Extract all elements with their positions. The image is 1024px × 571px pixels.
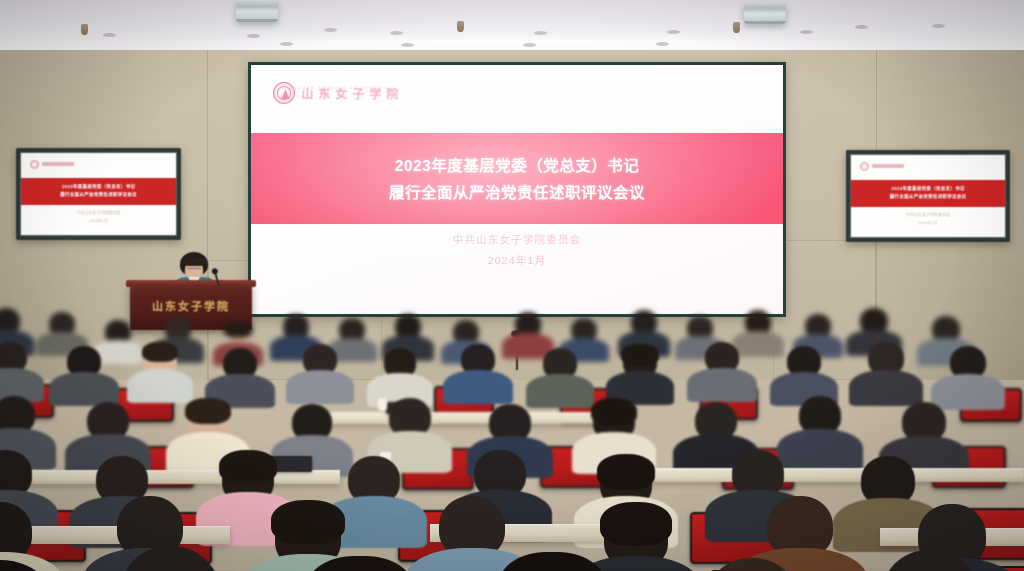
- side-monitor-right-logo: [860, 162, 904, 171]
- side-monitor-right-band: 2023年度基层党委（党总支）书记 履行全面从严治党责任述职评议会议: [851, 180, 1005, 207]
- recessed-light: [247, 34, 260, 38]
- slide-title-line-1: 2023年度基层党委（党总支）书记: [395, 154, 639, 176]
- recessed-light: [667, 30, 680, 34]
- audience: [0, 300, 1024, 571]
- audience-desk: [0, 526, 230, 544]
- ceiling-projector: [236, 0, 278, 22]
- recessed-light: [855, 25, 868, 29]
- side-monitor-right-footer: 中共山东女子学院委员会 2024年1月: [851, 212, 1005, 226]
- projection-surface: 山东女子学院 SHANDONG WOMEN'S UNIVERSITY 2023年…: [251, 65, 783, 314]
- side-monitor-right-date: 2024年1月: [918, 220, 937, 226]
- side-monitor-left-footer: 中共山东女子学院委员会 2024年1月: [21, 210, 176, 224]
- side-monitor-left: 2023年度基层党委（党总支）书记 履行全面从严治党责任述职评议会议 中共山东女…: [16, 148, 181, 240]
- university-seal-icon: [30, 160, 39, 169]
- sprinkler-head: [81, 24, 88, 35]
- side-monitor-left-title-2: 履行全面从严治党责任述职评议会议: [60, 192, 137, 198]
- side-monitor-left-title-1: 2023年度基层党委（党总支）书记: [62, 184, 135, 190]
- conference-room-photo: 山东女子学院 SHANDONG WOMEN'S UNIVERSITY 2023年…: [0, 0, 1024, 571]
- podium-top-surface: [126, 280, 256, 287]
- recessed-light: [324, 28, 337, 32]
- university-seal-icon: [860, 162, 869, 171]
- side-monitor-right-screen: 2023年度基层党委（党总支）书记 履行全面从严治党责任述职评议会议 中共山东女…: [850, 154, 1006, 238]
- recessed-light: [800, 30, 813, 34]
- logo-wordmark-shape: [42, 162, 74, 166]
- slide-title-band: 2023年度基层党委（党总支）书记 履行全面从严治党责任述职评议会议: [251, 133, 783, 224]
- projection-screen: 山东女子学院 SHANDONG WOMEN'S UNIVERSITY 2023年…: [248, 62, 786, 317]
- slide-title-line-2: 履行全面从严治党责任述职评议会议: [389, 181, 645, 203]
- recessed-light: [656, 42, 669, 46]
- audience-desk: [640, 468, 1024, 482]
- side-monitor-right-org: 中共山东女子学院委员会: [906, 212, 950, 218]
- recessed-light: [534, 31, 547, 35]
- sprinkler-head: [457, 21, 464, 32]
- recessed-light: [523, 43, 536, 47]
- side-monitor-left-org: 中共山东女子学院委员会: [77, 210, 121, 216]
- speaker-hair-front: [182, 257, 206, 266]
- sprinkler-head: [733, 22, 740, 33]
- recessed-light: [103, 33, 116, 37]
- side-monitor-right-title-1: 2023年度基层党委（党总支）书记: [891, 186, 964, 192]
- slide-logo-subline: SHANDONG WOMEN'S UNIVERSITY: [281, 85, 387, 90]
- recessed-light: [280, 42, 293, 46]
- cup: [378, 398, 387, 411]
- ceiling-light-glow: [158, 34, 866, 50]
- side-monitor-right-title-2: 履行全面从严治党责任述职评议会议: [890, 194, 967, 200]
- audience-desk: [330, 412, 630, 424]
- side-monitor-left-screen: 2023年度基层党委（党总支）书记 履行全面从严治党责任述职评议会议 中共山东女…: [20, 152, 177, 236]
- ceiling-projector: [744, 2, 786, 24]
- slide-organization: 中共山东女子学院委员会: [453, 232, 582, 247]
- recessed-light: [932, 24, 945, 28]
- slide-date: 2024年1月: [488, 253, 547, 268]
- side-monitor-left-band: 2023年度基层党委（党总支）书记 履行全面从严治党责任述职评议会议: [21, 178, 176, 205]
- side-monitor-right: 2023年度基层党委（党总支）书记 履行全面从严治党责任述职评议会议 中共山东女…: [846, 150, 1010, 242]
- side-monitor-left-logo: [30, 160, 74, 169]
- glasses-icon: [187, 268, 201, 271]
- ceiling: [0, 0, 1024, 52]
- side-monitor-left-date: 2024年1月: [89, 218, 108, 224]
- logo-wordmark-shape: [872, 164, 904, 168]
- slide-footer: 中共山东女子学院委员会 2024年1月: [251, 232, 783, 268]
- audience-desk: [0, 470, 340, 484]
